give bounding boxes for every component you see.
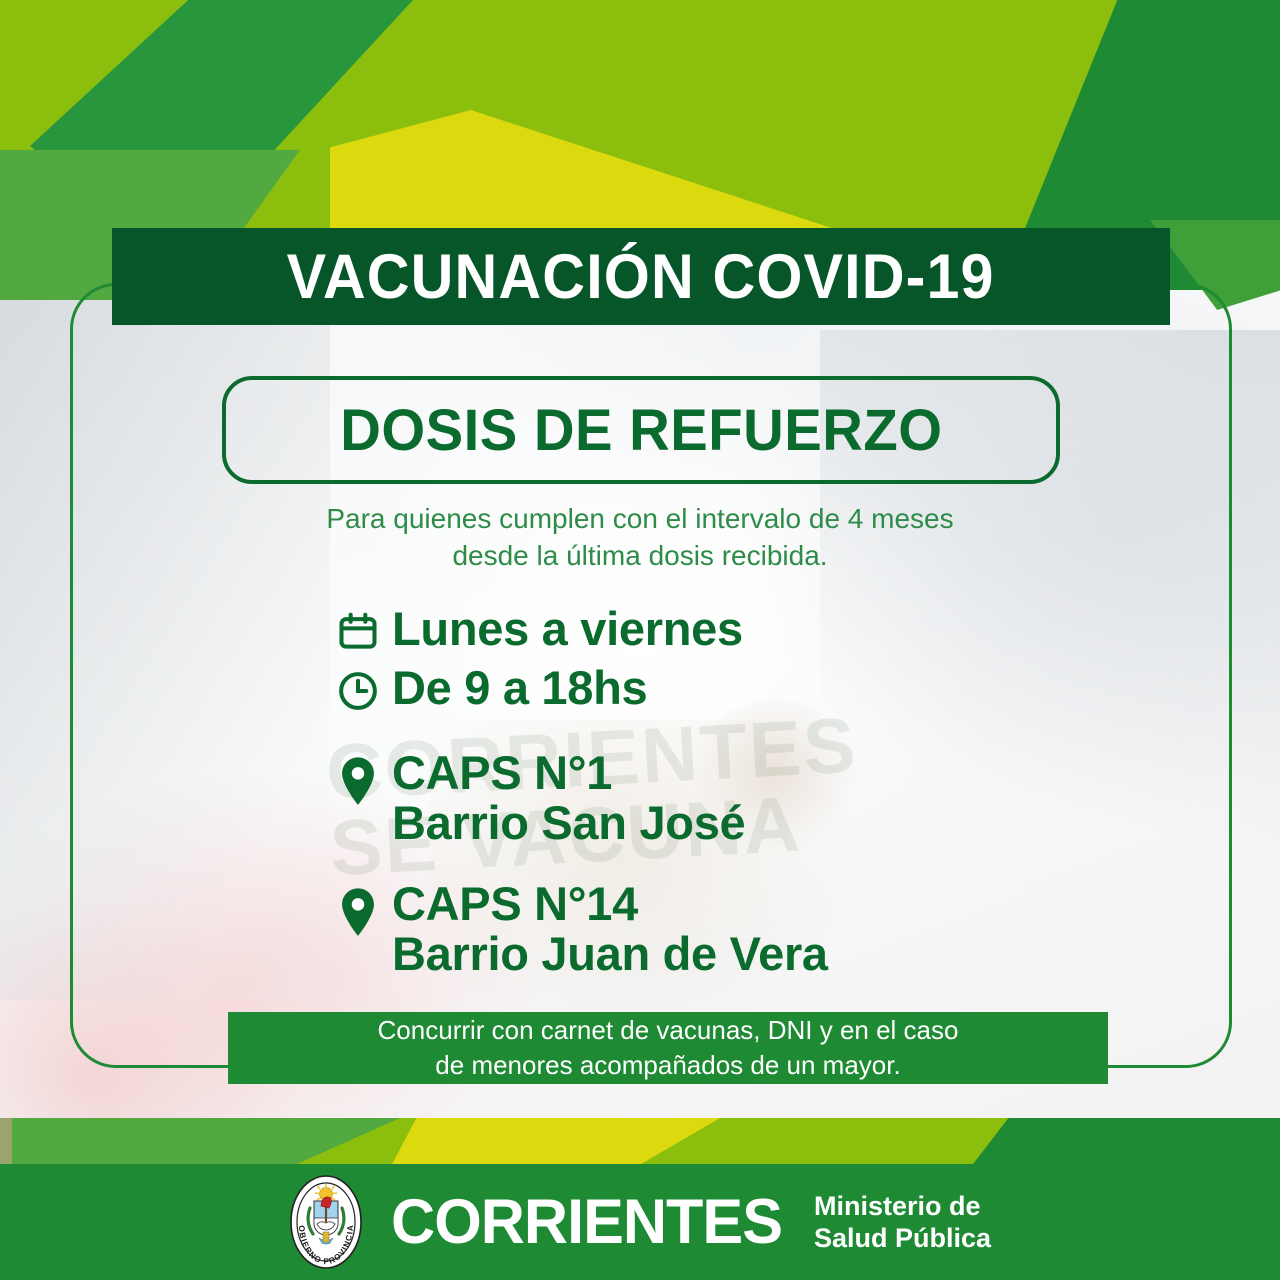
corrientes-wordmark: CORRIENTES (391, 1186, 782, 1258)
location-row-caps-14: CAPS N°14 Barrio Juan de Vera (336, 879, 1096, 980)
requirements-note-bar: Concurrir con carnet de vacunas, DNI y e… (228, 1012, 1108, 1084)
location-pin-icon (336, 879, 392, 944)
location-caps-1-text: CAPS N°1 Barrio San José (392, 748, 745, 849)
schedule-days-text: Lunes a viernes (392, 604, 743, 654)
requirements-note-text: Concurrir con carnet de vacunas, DNI y e… (378, 1013, 959, 1083)
government-coat-of-arms-icon: GOBIERNO PROVINCIAL (289, 1174, 363, 1270)
ministry-line-1: Ministerio de (814, 1191, 981, 1221)
note-line-2: de menores acompañados de un mayor. (435, 1050, 900, 1080)
footer-brand-lockup: GOBIERNO PROVINCIAL CORRIENTES Ministeri… (289, 1174, 991, 1270)
schedule-and-locations-list: Lunes a viernes De 9 a 18hs CAPS N°1 Bar… (336, 604, 1096, 983)
subtitle-text: DOSIS DE REFUERZO (340, 397, 942, 464)
schedule-row-days: Lunes a viernes (336, 604, 1096, 659)
title-banner: VACUNACIÓN COVID-19 (112, 228, 1170, 325)
page-title: VACUNACIÓN COVID-19 (287, 241, 995, 313)
location-pin-icon (336, 748, 392, 813)
bottom-shape-pink-edge (0, 1118, 12, 1168)
location-row-caps-1: CAPS N°1 Barrio San José (336, 748, 1096, 849)
vaccination-poster: CORRIENTES SE VACUNA VACUNACIÓN COVID-19… (0, 0, 1280, 1280)
location-caps-1-address: Barrio San José (392, 796, 745, 849)
lead-line-2: desde la última dosis recibida. (240, 537, 1040, 574)
lead-line-1: Para quienes cumplen con el intervalo de… (240, 500, 1040, 537)
schedule-hours-text: De 9 a 18hs (392, 663, 647, 713)
location-caps-14-text: CAPS N°14 Barrio Juan de Vera (392, 879, 828, 980)
location-caps-14-name: CAPS N°14 (392, 877, 638, 930)
note-line-1: Concurrir con carnet de vacunas, DNI y e… (378, 1015, 959, 1045)
clock-icon (336, 663, 392, 718)
location-caps-14-address: Barrio Juan de Vera (392, 927, 828, 980)
location-caps-1-name: CAPS N°1 (392, 746, 612, 799)
subtitle-pill: DOSIS DE REFUERZO (222, 376, 1060, 484)
calendar-icon (336, 604, 392, 659)
footer-bar: GOBIERNO PROVINCIAL CORRIENTES Ministeri… (0, 1164, 1280, 1280)
schedule-row-hours: De 9 a 18hs (336, 663, 1096, 718)
lead-paragraph: Para quienes cumplen con el intervalo de… (240, 500, 1040, 574)
ministry-line-2: Salud Pública (814, 1223, 991, 1253)
bottom-shape-green-right (970, 1118, 1280, 1168)
ministry-label: Ministerio de Salud Pública (814, 1190, 991, 1255)
